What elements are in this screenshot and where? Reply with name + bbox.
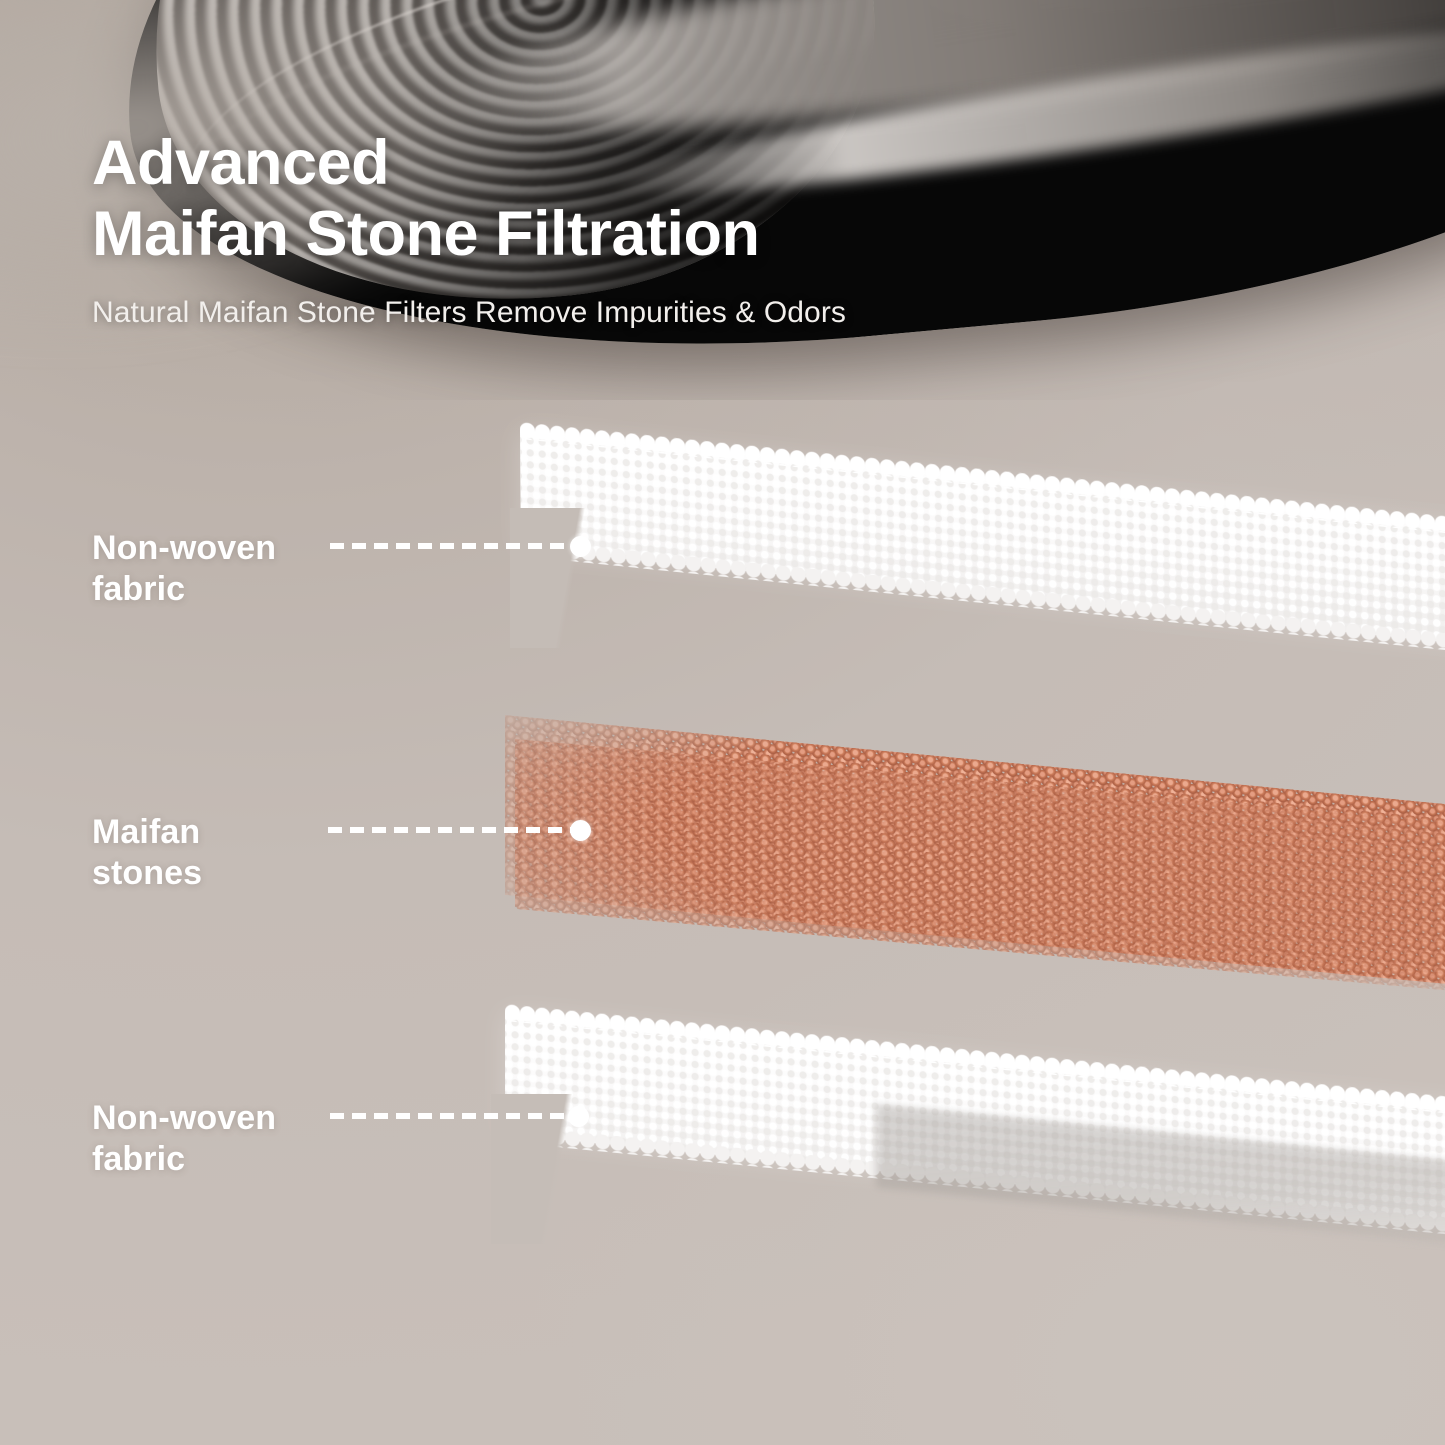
page-title: Advanced Maifan Stone Filtration: [92, 128, 1072, 270]
callout-bottom-fabric: Non-woven fabric: [92, 1098, 276, 1181]
leader-dot-maifan-stones: [570, 820, 591, 841]
leader-line-maifan-stones: [328, 827, 578, 833]
callout-label-top-fabric: Non-woven fabric: [92, 528, 276, 611]
callout-maifan-stones: Maifan stones: [92, 812, 202, 895]
callout-label-bottom-fabric: Non-woven fabric: [92, 1098, 276, 1181]
leader-dot-bottom-fabric: [568, 1106, 589, 1127]
callout-label-maifan-stones: Maifan stones: [92, 812, 202, 895]
callout-top-fabric: Non-woven fabric: [92, 528, 276, 611]
headline-block: Advanced Maifan Stone Filtration Natural…: [92, 128, 1072, 330]
leader-line-bottom-fabric: [330, 1113, 576, 1119]
product-feature-image: Advanced Maifan Stone Filtration Natural…: [0, 0, 1445, 1445]
page-subtitle: Natural Maifan Stone Filters Remove Impu…: [92, 296, 1072, 330]
leader-dot-top-fabric: [570, 536, 591, 557]
leader-line-top-fabric: [330, 543, 578, 549]
